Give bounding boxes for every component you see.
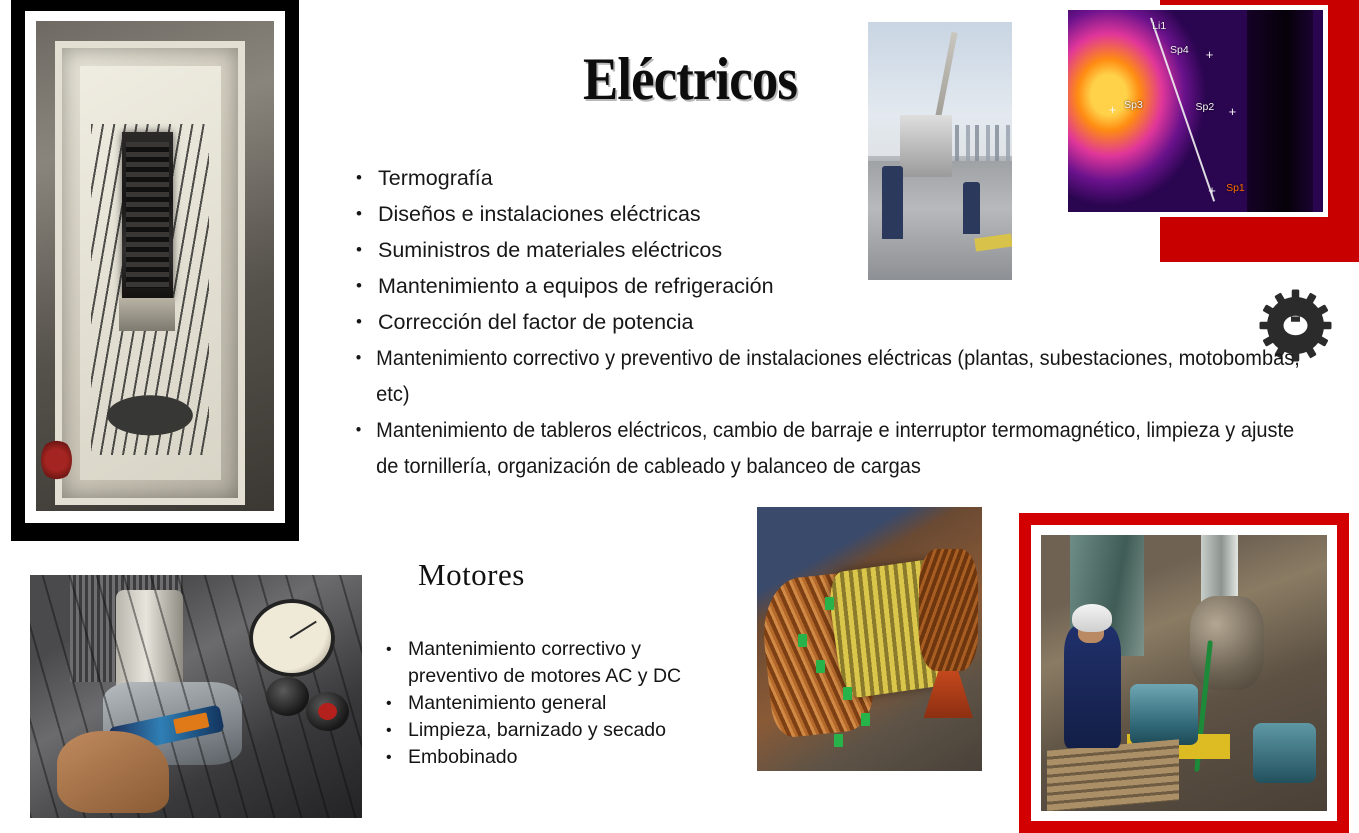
motor-rewinding-photo (757, 507, 982, 771)
thermal-label-sp3: Sp3 (1124, 99, 1143, 111)
thermal-label-sp4: Sp4 (1170, 44, 1189, 56)
list-item: Mantenimiento a equipos de refrigeración (352, 268, 1282, 304)
page-title: Eléctricos (505, 48, 875, 111)
motores-bullet-list: Mantenimiento correctivo y preventivo de… (383, 636, 733, 771)
slide-canvas: Eléctricos (0, 0, 1359, 833)
list-item: Suministros de materiales eléctricos (352, 232, 1282, 268)
pump-technician-photo (1041, 535, 1327, 811)
thermal-crosshair-sp3: + (1109, 103, 1117, 116)
list-item: Diseños e instalaciones eléctricas (352, 196, 1282, 232)
thermal-label-li1: Li1 (1152, 20, 1166, 32)
thermal-crosshair-sp4: + (1206, 48, 1214, 61)
list-item: Embobinado (383, 744, 733, 771)
list-item: Corrección del factor de potencia (352, 304, 1282, 340)
list-item: Mantenimiento general (383, 690, 733, 717)
list-item: Mantenimiento de tableros eléctricos, ca… (352, 412, 1302, 484)
services-bullet-list: Termografía Diseños e instalaciones eléc… (352, 160, 1282, 484)
list-item: Limpieza, barnizado y secado (383, 717, 733, 744)
gauge-measurement-photo (30, 575, 362, 818)
pump-technician-photo-frame (1019, 513, 1349, 833)
thermal-crosshair-sp2: + (1229, 105, 1237, 118)
list-item: Termografía (352, 160, 1282, 196)
list-item: Mantenimiento correctivo y preventivo de… (352, 340, 1302, 412)
thermal-label-sp2: Sp2 (1196, 101, 1215, 113)
electrical-panel-photo-frame (11, 0, 299, 541)
list-item: Mantenimiento correctivo y preventivo de… (383, 636, 733, 690)
electrical-panel-photo (36, 21, 274, 511)
motores-heading: Motores (418, 557, 525, 593)
